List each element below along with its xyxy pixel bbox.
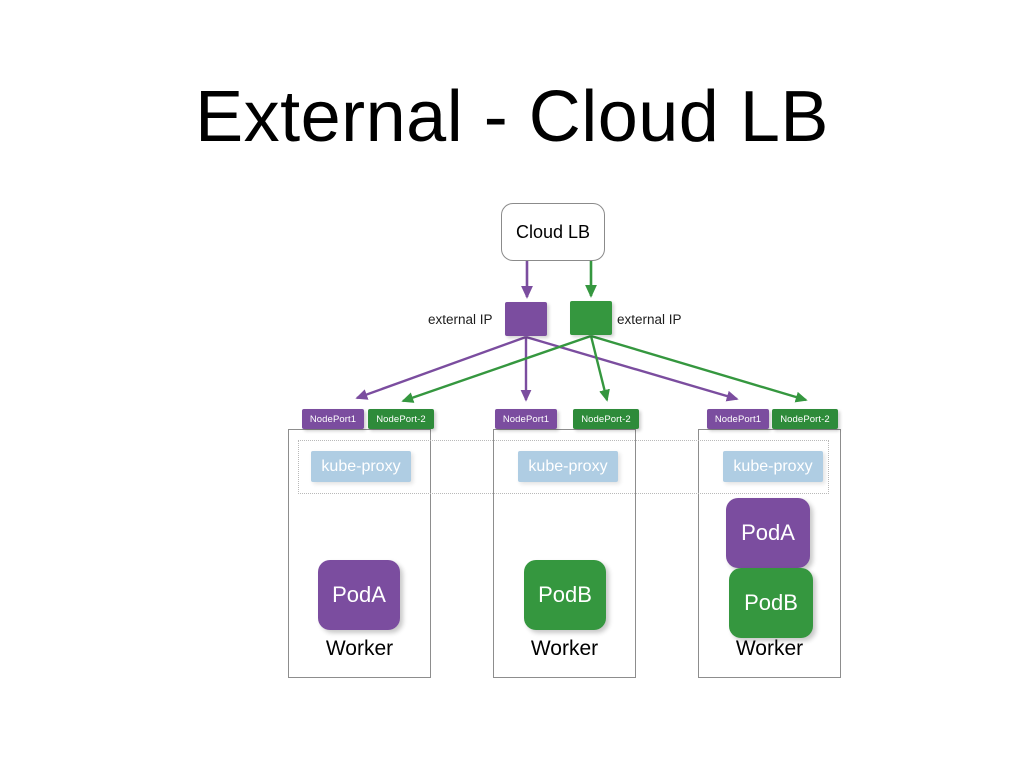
worker-2-kube-proxy-label: kube-proxy	[528, 458, 607, 476]
external-ip-label-left: external IP	[428, 312, 493, 327]
worker-3-kube-proxy[interactable]: kube-proxy	[723, 451, 823, 482]
worker-1-nodeport1-label: NodePort1	[310, 414, 356, 425]
external-ip-purple-square[interactable]	[505, 302, 547, 336]
arrow-external-ip-green-to-worker-1-nodeport2	[403, 336, 591, 401]
arrow-external-ip-green-to-worker-3-nodeport2	[591, 336, 806, 400]
worker-3-label: Worker	[698, 637, 841, 661]
worker-2-nodeport2-label: NodePort-2	[581, 414, 631, 425]
worker-3-pod-a-label: PodA	[741, 520, 795, 546]
worker-2-kube-proxy[interactable]: kube-proxy	[518, 451, 618, 482]
worker-1-pod-a[interactable]: PodA	[318, 560, 400, 630]
worker-2-label: Worker	[493, 637, 636, 661]
arrow-external-ip-green-to-worker-2-nodeport2	[591, 336, 607, 400]
worker-3-kube-proxy-label: kube-proxy	[733, 458, 812, 476]
worker-1-label: Worker	[288, 637, 431, 661]
worker-2-nodeport2-chip[interactable]: NodePort-2	[573, 409, 639, 429]
worker-2-pod-b-label: PodB	[538, 582, 592, 608]
external-ip-label-right: external IP	[617, 312, 682, 327]
worker-2-nodeport1-chip[interactable]: NodePort1	[495, 409, 557, 429]
page-title: External - Cloud LB	[0, 78, 1024, 157]
worker-1-nodeport1-chip[interactable]: NodePort1	[302, 409, 364, 429]
slide-canvas: External - Cloud LB	[0, 0, 1024, 768]
arrow-external-ip-purple-to-worker-3-nodeport1	[526, 337, 737, 399]
worker-2-pod-b[interactable]: PodB	[524, 560, 606, 630]
cloud-lb-label: Cloud LB	[516, 222, 590, 243]
worker-3-nodeport1-label: NodePort1	[715, 414, 761, 425]
worker-1-pod-a-label: PodA	[332, 582, 386, 608]
cloud-lb-box[interactable]: Cloud LB	[501, 203, 605, 261]
arrow-external-ip-purple-to-worker-1-nodeport1	[357, 337, 526, 398]
worker-3-nodeport2-label: NodePort-2	[780, 414, 830, 425]
worker-1-kube-proxy[interactable]: kube-proxy	[311, 451, 411, 482]
worker-3-pod-b[interactable]: PodB	[729, 568, 813, 638]
worker-3-pod-a[interactable]: PodA	[726, 498, 810, 568]
worker-3-nodeport1-chip[interactable]: NodePort1	[707, 409, 769, 429]
worker-3-nodeport2-chip[interactable]: NodePort-2	[772, 409, 838, 429]
worker-1-nodeport2-label: NodePort-2	[376, 414, 426, 425]
worker-1-kube-proxy-label: kube-proxy	[321, 458, 400, 476]
external-ip-green-square[interactable]	[570, 301, 612, 335]
worker-1-nodeport2-chip[interactable]: NodePort-2	[368, 409, 434, 429]
worker-3-pod-b-label: PodB	[744, 590, 798, 616]
worker-2-nodeport1-label: NodePort1	[503, 414, 549, 425]
